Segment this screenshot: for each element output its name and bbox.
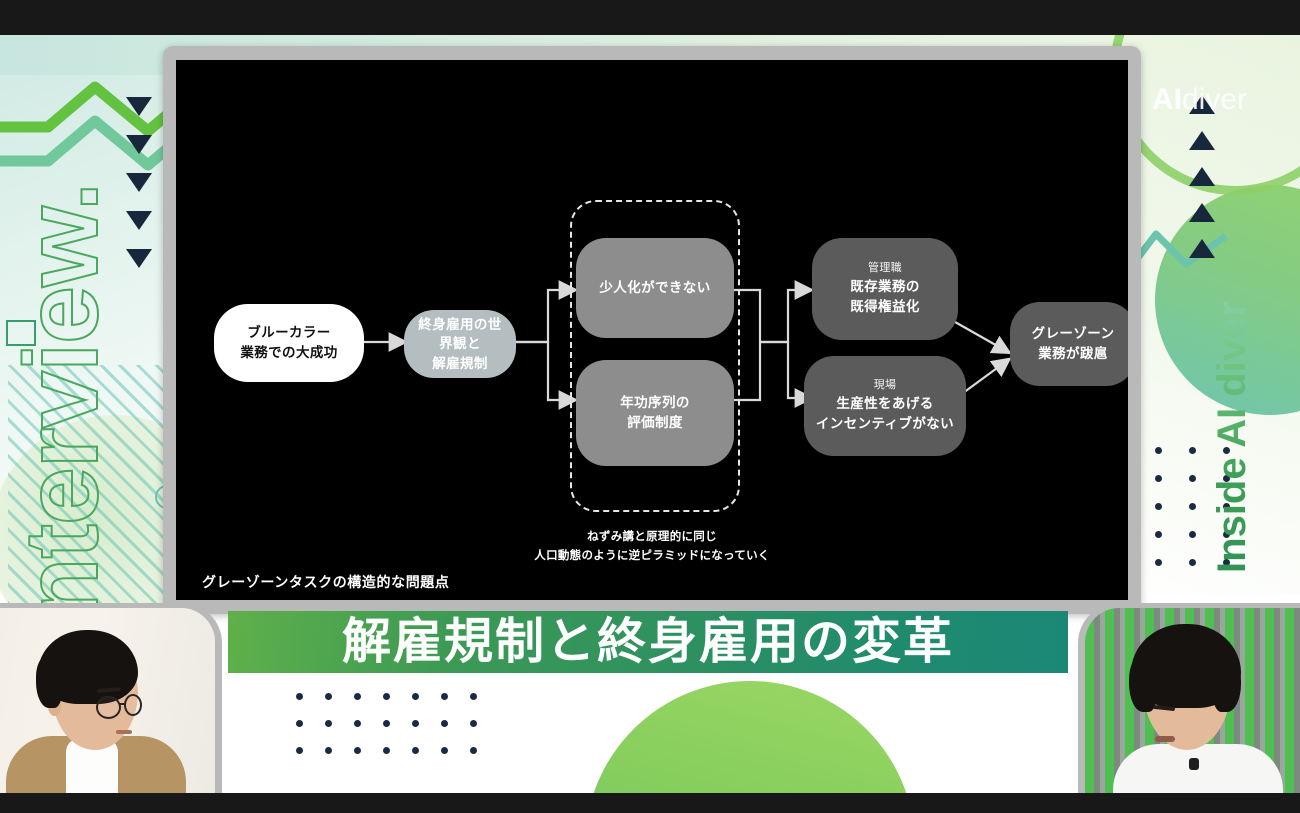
broadcast-canvas: Interview. Inside AI diver AIdiver: [0, 35, 1300, 793]
decor-dot: [296, 747, 303, 754]
person-right-sideburn-left: [1129, 654, 1157, 712]
aidiver-logo: AIdiver: [1152, 85, 1247, 115]
node-sublabel: 管理職: [868, 261, 902, 277]
decor-dot: [1189, 531, 1196, 538]
decor-dot: [296, 720, 303, 727]
decor-dot: [325, 747, 332, 754]
node-line-1: ブルーカラー: [247, 323, 330, 343]
video-frame: Interview. Inside AI diver AIdiver: [0, 0, 1300, 813]
decor-dot: [470, 720, 477, 727]
node-sublabel: 現場: [874, 378, 897, 394]
decor-dot: [354, 693, 361, 700]
decor-dot: [354, 747, 361, 754]
person-right-mouth: [1155, 736, 1175, 742]
person-right-sideburn-right: [1213, 656, 1241, 712]
decor-dot: [383, 693, 390, 700]
decor-dot: [441, 693, 448, 700]
decor-dot: [441, 720, 448, 727]
decor-dot: [1189, 475, 1196, 482]
webcam-participant-left[interactable]: [0, 608, 215, 793]
node-line-1: 終身雇用の世界観と: [412, 315, 508, 354]
decor-dotgrid-bottom: [296, 693, 499, 774]
decor-dot: [325, 693, 332, 700]
person-left-sideburn: [36, 656, 62, 708]
title-banner-text: 解雇規制と終身雇用の変革: [342, 618, 954, 667]
node-line-2: インセンティブがない: [816, 414, 954, 434]
vertical-inside-aidiver-wordmark: Inside AI diver: [1212, 272, 1252, 602]
decor-dot: [412, 720, 419, 727]
decor-dot: [470, 747, 477, 754]
caption-line-1: ねずみ講と原理的に同じ: [176, 528, 1128, 547]
node-line-1: グレーゾーン: [1032, 324, 1115, 344]
decor-dot: [1155, 503, 1162, 510]
slide-canvas: ブルーカラー 業務での大成功 終身雇用の世界観と 解雇規制 少人化ができない 年…: [176, 60, 1128, 600]
caption-line-2: 人口動態のように逆ピラミッドになっていく: [176, 547, 1128, 566]
logo-bold-text: AI: [1152, 83, 1182, 116]
decor-dot: [383, 747, 390, 754]
node-line-2: 業務が跋扈: [1038, 344, 1108, 364]
diagram-node-grayzone-rampant: グレーゾーン 業務が跋扈: [1010, 302, 1128, 386]
diagram-node-frontline-incentive: 現場 生産性をあげる インセンティブがない: [804, 356, 966, 456]
decor-dot: [1189, 447, 1196, 454]
logo-light-text: diver: [1182, 83, 1247, 116]
decor-dot: [1189, 503, 1196, 510]
vertical-interview-wordmark: Interview.: [10, 49, 114, 649]
decor-dot: [354, 720, 361, 727]
diagram-node-lifetime-employment: 終身雇用の世界観と 解雇規制: [404, 310, 516, 378]
node-line-1: 年功序列の: [620, 393, 690, 413]
person-left-glasses-bridge: [119, 703, 126, 705]
node-line-1: 少人化ができない: [599, 278, 710, 298]
lower-third-title-banner: 解雇規制と終身雇用の変革: [228, 611, 1068, 673]
person-left-mouth: [116, 730, 132, 734]
decor-dot: [1155, 475, 1162, 482]
node-line-2: 評価制度: [627, 413, 683, 433]
diagram-node-no-downsizing: 少人化ができない: [576, 238, 734, 338]
node-line-1: 既存業務の: [850, 277, 920, 297]
decor-dot: [1155, 531, 1162, 538]
letterbox-bottom: [0, 793, 1300, 813]
diagram-node-blue-collar: ブルーカラー 業務での大成功: [214, 304, 364, 382]
diagram-node-manager-vested: 管理職 既存業務の 既得権益化: [812, 238, 958, 340]
node-line-1: 生産性をあげる: [836, 394, 933, 414]
decor-dot: [296, 693, 303, 700]
decor-dot: [1189, 559, 1196, 566]
decor-dot: [412, 747, 419, 754]
node-line-2: 解雇規制: [432, 354, 488, 374]
decor-dot: [383, 720, 390, 727]
decor-dot: [441, 747, 448, 754]
person-left-glasses-lens-near: [96, 696, 121, 719]
decor-dot: [470, 693, 477, 700]
person-right-collar-mic: [1189, 758, 1199, 770]
slide-frame: ブルーカラー 業務での大成功 終身雇用の世界観と 解雇規制 少人化ができない 年…: [163, 46, 1141, 614]
decor-dot: [1155, 559, 1162, 566]
node-line-2: 業務での大成功: [240, 343, 337, 363]
node-line-2: 既得権益化: [850, 297, 920, 317]
decor-circle-bottom-center: [585, 681, 915, 793]
decor-dot: [325, 720, 332, 727]
decor-dot: [412, 693, 419, 700]
diagram-caption: ねずみ講と原理的に同じ 人口動態のように逆ピラミッドになっていく: [176, 528, 1128, 566]
webcam-participant-right[interactable]: [1085, 608, 1300, 793]
diagram-node-seniority-system: 年功序列の 評価制度: [576, 360, 734, 466]
slide-footer-label: グレーゾーンタスクの構造的な問題点: [202, 572, 450, 592]
decor-dot: [1155, 447, 1162, 454]
person-left-glasses-lens-far: [124, 694, 142, 716]
letterbox-top: [0, 0, 1300, 35]
